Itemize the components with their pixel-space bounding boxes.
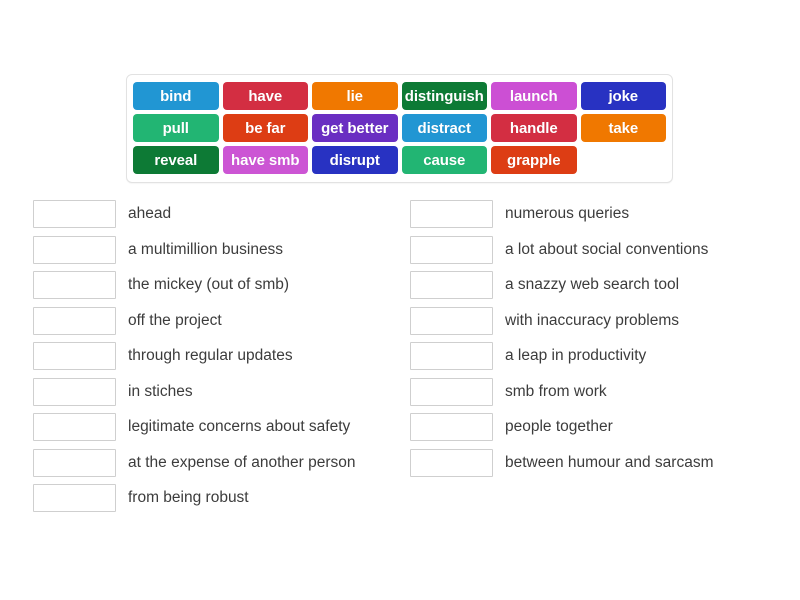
word-tile[interactable]: bind [133, 82, 219, 110]
word-tile[interactable]: pull [133, 114, 219, 142]
answer-row: ahead [33, 200, 356, 228]
answer-row: smb from work [410, 378, 714, 406]
answer-drop-box[interactable] [33, 236, 116, 264]
answer-drop-box[interactable] [33, 342, 116, 370]
answer-label: a leap in productivity [505, 342, 646, 370]
word-tile[interactable]: handle [491, 114, 577, 142]
answer-label: numerous queries [505, 200, 629, 228]
answer-row: the mickey (out of smb) [33, 271, 356, 299]
answer-label: people together [505, 413, 613, 441]
word-tile[interactable]: get better [312, 114, 398, 142]
answer-label: in stiches [128, 378, 193, 406]
answer-row: numerous queries [410, 200, 714, 228]
answer-row: off the project [33, 307, 356, 335]
answer-drop-box[interactable] [33, 271, 116, 299]
answer-label: a lot about social conventions [505, 236, 708, 264]
answer-column-right: numerous queriesa lot about social conve… [410, 200, 714, 484]
answer-label: ahead [128, 200, 171, 228]
answer-label: a multimillion business [128, 236, 283, 264]
answer-row: people together [410, 413, 714, 441]
answer-label: between humour and sarcasm [505, 449, 714, 477]
word-tile[interactable]: take [581, 114, 667, 142]
answer-row: between humour and sarcasm [410, 449, 714, 477]
answer-drop-box[interactable] [33, 200, 116, 228]
answer-row: at the expense of another person [33, 449, 356, 477]
word-tile[interactable]: launch [491, 82, 577, 110]
word-tile[interactable]: joke [581, 82, 667, 110]
word-tile[interactable]: be far [223, 114, 309, 142]
answer-drop-box[interactable] [410, 200, 493, 228]
answer-row: a multimillion business [33, 236, 356, 264]
answer-label: the mickey (out of smb) [128, 271, 289, 299]
word-tile[interactable]: distinguish [402, 82, 488, 110]
answer-drop-box[interactable] [410, 413, 493, 441]
word-tile-placeholder [581, 146, 667, 174]
answer-row: in stiches [33, 378, 356, 406]
answer-drop-box[interactable] [410, 342, 493, 370]
word-tile[interactable]: grapple [491, 146, 577, 174]
word-tile[interactable]: disrupt [312, 146, 398, 174]
answer-row: a snazzy web search tool [410, 271, 714, 299]
answer-drop-box[interactable] [410, 236, 493, 264]
answer-label: a snazzy web search tool [505, 271, 679, 299]
word-tile[interactable]: have smb [223, 146, 309, 174]
word-tile[interactable]: reveal [133, 146, 219, 174]
answer-row: through regular updates [33, 342, 356, 370]
answer-label: off the project [128, 307, 222, 335]
answer-drop-box[interactable] [410, 307, 493, 335]
answer-column-left: aheada multimillion businessthe mickey (… [33, 200, 356, 520]
answer-label: from being robust [128, 484, 249, 512]
word-tile-row: revealhave smbdisruptcausegrapple [133, 146, 666, 174]
answer-row: a lot about social conventions [410, 236, 714, 264]
answer-drop-box[interactable] [410, 378, 493, 406]
answer-drop-box[interactable] [33, 413, 116, 441]
word-tile-row: pullbe farget betterdistracthandletake [133, 114, 666, 142]
answer-drop-box[interactable] [33, 484, 116, 512]
answer-row: from being robust [33, 484, 356, 512]
word-tile-row: bindhaveliedistinguishlaunchjoke [133, 82, 666, 110]
word-bank-container: bindhaveliedistinguishlaunchjokepullbe f… [126, 74, 673, 183]
answer-label: with inaccuracy problems [505, 307, 679, 335]
word-tile[interactable]: lie [312, 82, 398, 110]
answer-row: legitimate concerns about safety [33, 413, 356, 441]
answer-drop-box[interactable] [33, 378, 116, 406]
answer-drop-box[interactable] [33, 449, 116, 477]
word-tile[interactable]: distract [402, 114, 488, 142]
answer-drop-box[interactable] [410, 449, 493, 477]
word-tile[interactable]: cause [402, 146, 488, 174]
answer-row: with inaccuracy problems [410, 307, 714, 335]
answer-label: legitimate concerns about safety [128, 413, 350, 441]
answer-row: a leap in productivity [410, 342, 714, 370]
answer-drop-box[interactable] [33, 307, 116, 335]
answer-label: smb from work [505, 378, 607, 406]
answer-label: through regular updates [128, 342, 293, 370]
answer-drop-box[interactable] [410, 271, 493, 299]
word-tile[interactable]: have [223, 82, 309, 110]
answer-label: at the expense of another person [128, 449, 356, 477]
